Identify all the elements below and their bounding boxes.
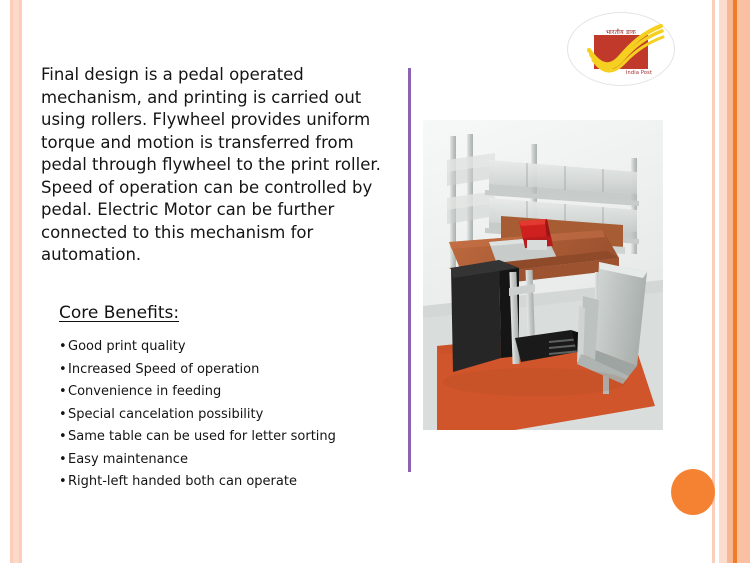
list-item-label: Same table can be used for letter sortin…: [68, 429, 336, 444]
list-item-label: Special cancelation possibility: [68, 407, 263, 422]
list-item: •Same table can be used for letter sorti…: [59, 426, 399, 449]
left-border-stripe-3: [19, 0, 22, 563]
list-item-label: Good print quality: [68, 339, 186, 354]
product-photo: [423, 120, 663, 430]
bullet-glyph: •: [59, 381, 67, 404]
right-border-stripe-2: [719, 0, 727, 563]
right-border-stripe-5: [737, 0, 750, 563]
list-item-label: Convenience in feeding: [68, 384, 221, 399]
list-item: •Convenience in feeding: [59, 381, 399, 404]
list-item-label: Easy maintenance: [68, 452, 188, 467]
india-post-logo: भारतीय डाक India Post: [567, 12, 675, 86]
core-benefits-list: •Good print quality •Increased Speed of …: [59, 336, 399, 494]
bullet-glyph: •: [59, 471, 67, 494]
list-item: •Easy maintenance: [59, 449, 399, 472]
logo-caption: India Post: [617, 70, 661, 76]
core-benefits-heading: Core Benefits:: [59, 303, 179, 323]
logo-hindi-text: भारतीय डाक: [594, 29, 648, 36]
vertical-divider: [408, 68, 411, 472]
intro-paragraph: Final design is a pedal operated mechani…: [41, 64, 396, 267]
list-item: •Special cancelation possibility: [59, 404, 399, 427]
bullet-glyph: •: [59, 426, 67, 449]
list-item: •Good print quality: [59, 336, 399, 359]
right-border-stripe-1: [712, 0, 715, 563]
list-item-label: Right-left handed both can operate: [68, 474, 297, 489]
bullet-glyph: •: [59, 336, 67, 359]
list-item: •Right-left handed both can operate: [59, 471, 399, 494]
bullet-glyph: •: [59, 404, 67, 427]
franking-table-render: [423, 120, 663, 430]
list-item-label: Increased Speed of operation: [68, 362, 259, 377]
accent-circle: [671, 469, 715, 515]
list-item: •Increased Speed of operation: [59, 359, 399, 382]
bullet-glyph: •: [59, 359, 67, 382]
presentation-slide: भारतीय डाक India Post Final design is a …: [0, 0, 750, 563]
bullet-glyph: •: [59, 449, 67, 472]
